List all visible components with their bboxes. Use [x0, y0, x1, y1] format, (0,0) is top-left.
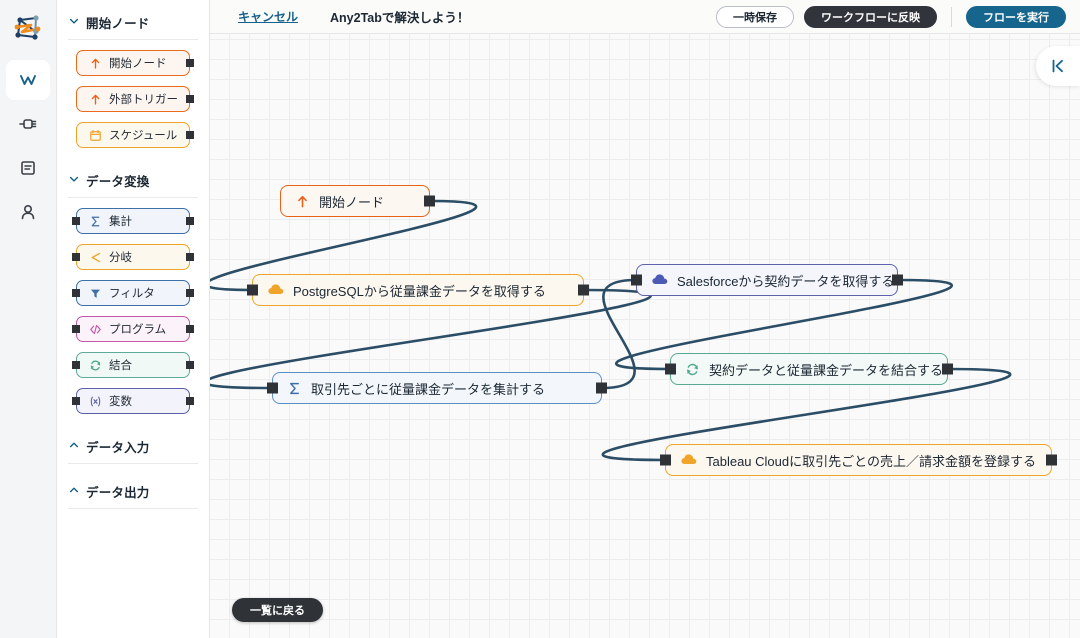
palette-chip-label: 開始ノード	[109, 55, 167, 71]
document-list-icon	[17, 157, 39, 179]
node-output-port[interactable]	[186, 217, 194, 225]
palette-section-divider	[68, 197, 198, 198]
node-input-port[interactable]	[267, 383, 278, 394]
workflow-w-icon	[17, 69, 39, 91]
palette-node-chip[interactable]: フィルタ	[76, 280, 190, 306]
palette-chip-label: 集計	[109, 213, 132, 229]
node-output-port[interactable]	[186, 325, 194, 333]
node-input-port[interactable]	[72, 325, 80, 333]
sigma-icon	[89, 215, 103, 228]
palette-section-divider	[68, 39, 198, 40]
chevron-up-icon	[68, 439, 79, 454]
canvas-node-label: Salesforceから契約データを取得する	[677, 271, 894, 290]
chevron-down-icon	[68, 173, 79, 188]
chevron-down	[68, 173, 80, 185]
rail-item-account[interactable]	[6, 192, 50, 232]
node-input-port[interactable]	[72, 253, 80, 261]
sigma-icon	[287, 381, 303, 396]
palette-node-chip[interactable]: 分岐	[76, 244, 190, 270]
calendar-icon	[89, 129, 102, 142]
palette-section-title: 開始ノード	[86, 13, 150, 32]
palette-section-title: データ入力	[86, 437, 150, 456]
palette-node-chip[interactable]: 外部トリガー	[76, 86, 190, 112]
palette-chip-label: プログラム	[109, 321, 166, 337]
apply-workflow-button[interactable]: ワークフローに反映	[804, 6, 937, 28]
node-input-port[interactable]	[72, 289, 80, 297]
run-flow-button[interactable]: フローを実行	[966, 6, 1066, 28]
palette-section-header[interactable]: データ入力	[68, 429, 198, 463]
collapse-panel-button[interactable]	[1036, 46, 1080, 86]
canvas-node-label: Tableau Cloudに取引先ごとの売上／請求金額を登録する	[706, 451, 1036, 470]
node-output-port[interactable]	[892, 275, 903, 286]
node-palette-sidebar: 開始ノード開始ノード外部トリガースケジュールデータ変換集計分岐フィルタプログラム…	[57, 0, 210, 638]
palette-section-header[interactable]: 開始ノード	[68, 5, 198, 39]
palette-node-chip[interactable]: 変数	[76, 388, 190, 414]
workflow-editor-app: 開始ノード開始ノード外部トリガースケジュールデータ変換集計分岐フィルタプログラム…	[0, 0, 1080, 638]
flow-title: Any2Tabで解決しよう！	[330, 7, 469, 26]
refresh-join-icon	[89, 359, 103, 372]
cloud-tb-icon	[680, 451, 698, 469]
back-to-list-button[interactable]: 一覧に戻る	[232, 598, 323, 622]
canvas-node[interactable]: 開始ノード	[280, 185, 430, 217]
canvas-node-label: 契約データと従量課金データを結合する	[709, 360, 943, 379]
cloud-db-icon	[267, 281, 285, 299]
node-output-port[interactable]	[186, 131, 194, 139]
palette-chip-label: フィルタ	[109, 285, 155, 301]
cancel-link[interactable]: キャンセル	[238, 8, 298, 25]
node-output-port[interactable]	[186, 397, 194, 405]
chevron-up-icon	[68, 484, 79, 499]
palette-section-title: データ出力	[86, 482, 150, 501]
node-output-port[interactable]	[942, 364, 953, 375]
top-toolbar: キャンセル Any2Tabで解決しよう！ 一時保存 ワークフローに反映 フローを…	[210, 0, 1080, 34]
save-draft-button[interactable]: 一時保存	[716, 6, 794, 28]
left-icon-rail	[0, 0, 57, 638]
code-icon	[89, 323, 102, 336]
arrow-up-icon	[89, 93, 103, 106]
arrow-up-icon	[295, 194, 310, 209]
canvas-node[interactable]: Tableau Cloudに取引先ごとの売上／請求金額を登録する	[665, 444, 1052, 476]
node-output-port[interactable]	[424, 196, 435, 207]
node-output-port[interactable]	[1046, 455, 1057, 466]
filter-icon	[89, 287, 102, 300]
main-area: キャンセル Any2Tabで解決しよう！ 一時保存 ワークフローに反映 フローを…	[210, 0, 1080, 638]
toolbar-actions: 一時保存 ワークフローに反映 フローを実行	[716, 6, 1066, 28]
workflow-canvas[interactable]: 開始ノードPostgreSQLから従量課金データを取得するSalesforceか…	[210, 34, 1080, 638]
node-output-port[interactable]	[186, 253, 194, 261]
canvas-node-label: 取引先ごとに従量課金データを集計する	[311, 379, 545, 398]
cloud-sf-icon	[651, 271, 669, 289]
palette-section-header[interactable]: データ出力	[68, 474, 198, 508]
palette-section-body: 開始ノード外部トリガースケジュール	[68, 50, 198, 158]
palette-node-chip[interactable]: スケジュール	[76, 122, 190, 148]
node-input-port[interactable]	[72, 361, 80, 369]
arrow-up-icon	[89, 57, 103, 70]
sigma-icon	[287, 381, 302, 396]
palette-section-header[interactable]: データ変換	[68, 163, 198, 197]
canvas-node-label: PostgreSQLから従量課金データを取得する	[293, 281, 546, 300]
branch-icon	[89, 251, 103, 264]
palette-node-chip[interactable]: 開始ノード	[76, 50, 190, 76]
canvas-node-label: 開始ノード	[319, 192, 384, 211]
refresh-join-icon	[685, 362, 701, 377]
refresh-join-icon	[89, 359, 102, 372]
node-output-port[interactable]	[186, 59, 194, 67]
sigma-icon	[89, 215, 102, 228]
palette-section-title: データ変換	[86, 171, 150, 190]
palette-section-body: 集計分岐フィルタプログラム結合変数	[68, 208, 198, 424]
chevron-down	[68, 15, 80, 27]
palette-chip-label: 分岐	[109, 249, 132, 265]
calendar-icon	[89, 129, 103, 142]
palette-chip-label: スケジュール	[109, 127, 177, 143]
node-input-port[interactable]	[72, 397, 80, 405]
node-input-port[interactable]	[665, 364, 676, 375]
palette-node-chip[interactable]: プログラム	[76, 316, 190, 342]
arrow-up-icon	[295, 194, 311, 209]
node-output-port[interactable]	[186, 361, 194, 369]
node-output-port[interactable]	[578, 285, 589, 296]
canvas-node[interactable]: PostgreSQLから従量課金データを取得する	[252, 274, 584, 306]
variable-icon	[89, 395, 102, 408]
rail-item-connections[interactable]	[6, 104, 50, 144]
node-output-port[interactable]	[186, 95, 194, 103]
rail-item-workflow[interactable]	[6, 60, 50, 100]
canvas-node[interactable]: 取引先ごとに従量課金データを集計する	[272, 372, 602, 404]
node-output-port[interactable]	[186, 289, 194, 297]
user-person-icon	[17, 201, 39, 223]
node-input-port[interactable]	[631, 275, 642, 286]
cloud-db-icon	[267, 281, 285, 299]
plug-connector-icon	[17, 113, 39, 135]
workflow-graph-logo-icon	[11, 11, 45, 45]
workflow-edge[interactable]	[602, 280, 636, 388]
variable-icon	[89, 395, 103, 408]
toolbar-divider	[951, 7, 952, 27]
node-output-port[interactable]	[596, 383, 607, 394]
arrow-up-icon	[89, 57, 102, 70]
cloud-sf-icon	[651, 271, 669, 289]
app-logo[interactable]	[0, 0, 57, 56]
arrow-up-icon	[89, 93, 102, 106]
edge-layer	[210, 34, 1080, 638]
rail-item-logs[interactable]	[6, 148, 50, 188]
node-input-port[interactable]	[72, 217, 80, 225]
chevron-up	[68, 484, 80, 496]
palette-chip-label: 結合	[109, 357, 132, 373]
collapse-panel-icon	[1049, 57, 1067, 75]
chevron-down-icon	[68, 15, 79, 30]
palette-section-divider	[68, 508, 198, 509]
canvas-node[interactable]: Salesforceから契約データを取得する	[636, 264, 898, 296]
palette-chip-label: 外部トリガー	[109, 91, 178, 107]
palette-node-chip[interactable]: 集計	[76, 208, 190, 234]
node-input-port[interactable]	[247, 285, 258, 296]
chevron-up	[68, 439, 80, 451]
filter-icon	[89, 287, 103, 300]
canvas-node[interactable]: 契約データと従量課金データを結合する	[670, 353, 948, 385]
node-input-port[interactable]	[660, 455, 671, 466]
palette-section-divider	[68, 463, 198, 464]
refresh-join-icon	[685, 362, 700, 377]
code-icon	[89, 323, 103, 336]
cloud-tb-icon	[680, 451, 698, 469]
palette-chip-label: 変数	[109, 393, 132, 409]
branch-icon	[89, 251, 102, 264]
palette-node-chip[interactable]: 結合	[76, 352, 190, 378]
